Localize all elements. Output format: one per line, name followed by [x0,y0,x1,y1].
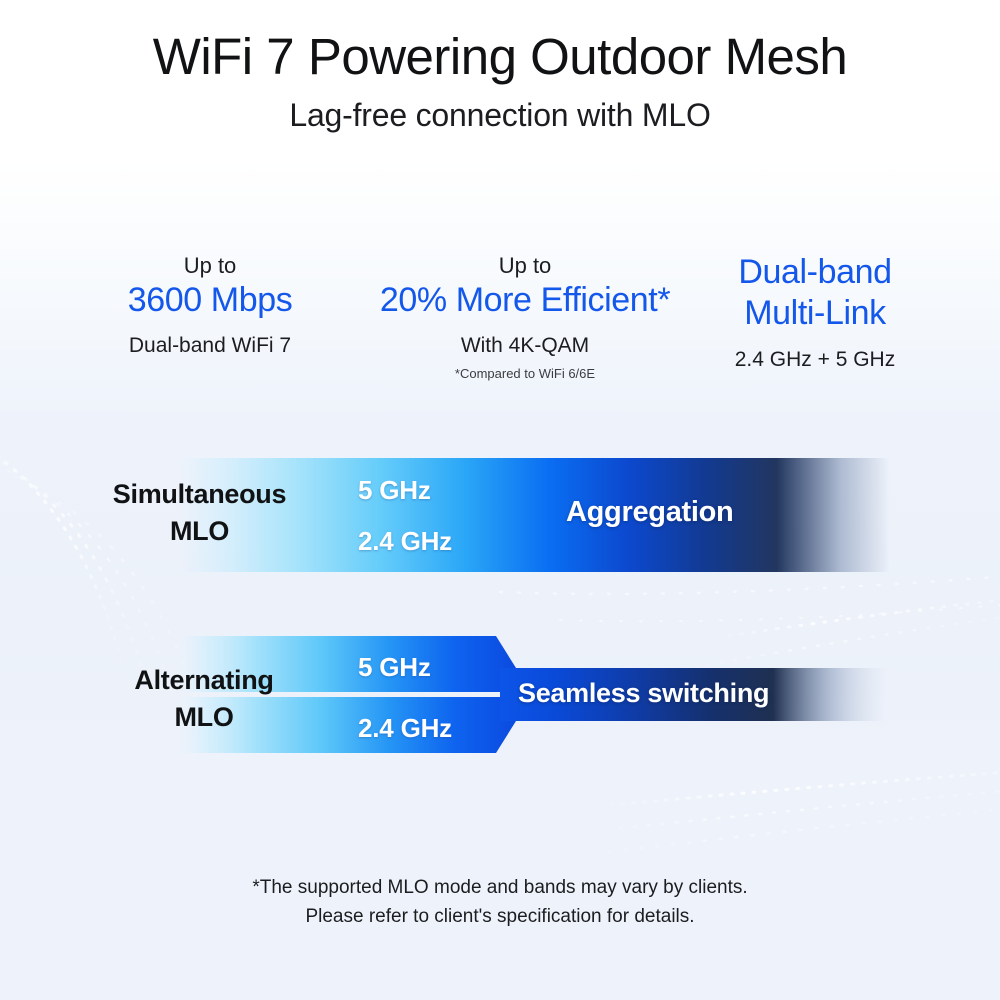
alternating-label-line2: MLO [174,702,233,732]
footnote-line-1: *The supported MLO mode and bands may va… [0,873,1000,902]
footnote-line-2: Please refer to client's specification f… [0,902,1000,931]
header: WiFi 7 Powering Outdoor Mesh Lag-free co… [0,28,1000,134]
stat-card-efficiency: Up to 20% More Efficient* With 4K-QAM *C… [365,252,685,381]
stat-card-speed: Up to 3600 Mbps Dual-band WiFi 7 [60,252,360,360]
simultaneous-label-line2: MLO [170,516,229,546]
alternating-label-line1: Alternating [134,665,273,695]
stat-efficiency-caption: With 4K-QAM [365,333,685,359]
stat-multilink-value-line1: Dual-band [690,252,940,293]
simultaneous-band-labels: 5 GHz 2.4 GHz [358,458,558,572]
simultaneous-result-label: Aggregation [566,498,733,527]
stat-multilink-value-line2: Multi-Link [690,293,940,334]
alternating-mlo-label: Alternating MLO [104,662,304,737]
simultaneous-band-24ghz: 2.4 GHz [358,528,558,554]
stat-efficiency-value: 20% More Efficient* [365,280,685,321]
simultaneous-band-5ghz: 5 GHz [358,477,558,503]
stat-speed-prefix: Up to [60,252,360,280]
alternating-result-label: Seamless switching [518,680,769,707]
stat-speed-value: 3600 Mbps [60,280,360,321]
alternating-band-5ghz: 5 GHz [358,654,431,680]
simultaneous-label-line1: Simultaneous [113,479,286,509]
stat-card-multilink: Dual-band Multi-Link 2.4 GHz + 5 GHz [690,252,940,373]
page-title: WiFi 7 Powering Outdoor Mesh [0,28,1000,85]
stat-efficiency-prefix: Up to [365,252,685,280]
infographic-page: WiFi 7 Powering Outdoor Mesh Lag-free co… [0,0,1000,1000]
footnote: *The supported MLO mode and bands may va… [0,873,1000,932]
stats-row: Up to 3600 Mbps Dual-band WiFi 7 Up to 2… [60,252,940,381]
stat-multilink-caption: 2.4 GHz + 5 GHz [690,347,940,373]
page-subtitle: Lag-free connection with MLO [0,97,1000,134]
simultaneous-mlo-label: Simultaneous MLO [92,476,307,551]
stat-efficiency-footnote: *Compared to WiFi 6/6E [365,366,685,382]
alternating-band-24ghz: 2.4 GHz [358,715,452,741]
stat-speed-caption: Dual-band WiFi 7 [60,333,360,359]
